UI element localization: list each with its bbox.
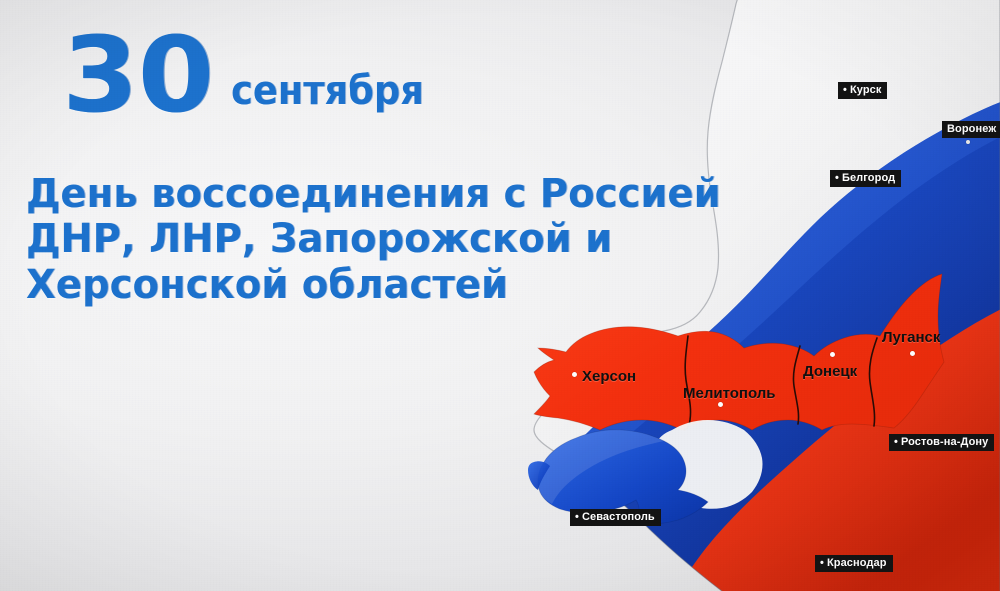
- city-name-rostov-na-donu: Ростов-на-Дону: [901, 436, 988, 448]
- city-label-melitopol[interactable]: Мелитополь: [683, 386, 776, 401]
- city-label-belgorod[interactable]: •Белгород: [830, 170, 901, 187]
- city-label-lugansk[interactable]: Луганск: [882, 330, 940, 345]
- headline-line-1: День воссоединения с Россией: [26, 172, 798, 217]
- city-label-kherson[interactable]: Херсон: [582, 369, 636, 384]
- city-name-donetsk: Донецк: [803, 363, 857, 380]
- date-row: 30 сентября: [62, 28, 440, 124]
- city-name-sevastopol: Севастополь: [582, 511, 655, 523]
- poster-canvas: •Курск Воронеж •Белгород Луганск Донецк …: [0, 0, 1000, 591]
- date-month-name: сентября: [231, 71, 424, 124]
- city-label-kursk[interactable]: •Курск: [838, 82, 887, 99]
- city-label-voronezh[interactable]: Воронеж: [942, 121, 1000, 138]
- city-name-krasnodar: Краснодар: [827, 557, 887, 569]
- city-dot-voronezh: [966, 140, 970, 144]
- date-day-number: 30: [62, 28, 213, 124]
- city-bullet-rostov: •: [894, 436, 898, 448]
- city-bullet-belgorod: •: [835, 172, 839, 184]
- city-label-krasnodar[interactable]: •Краснодар: [815, 555, 893, 572]
- headline-line-3: Херсонской областей: [26, 263, 798, 308]
- city-bullet-kursk: •: [843, 84, 847, 96]
- city-bullet-sevastopol: •: [575, 511, 579, 523]
- city-dot-donetsk: [830, 352, 835, 357]
- city-label-rostov-na-donu[interactable]: •Ростов-на-Дону: [889, 434, 994, 451]
- headline-line-2: ДНР, ЛНР, Запорожской и: [26, 217, 798, 262]
- city-label-sevastopol[interactable]: •Севастополь: [570, 509, 661, 526]
- city-name-kursk: Курск: [850, 84, 882, 96]
- city-name-kherson: Херсон: [582, 368, 636, 385]
- city-bullet-krasnodar: •: [820, 557, 824, 569]
- city-dot-lugansk: [910, 351, 915, 356]
- city-label-donetsk[interactable]: Донецк: [803, 364, 857, 379]
- city-name-lugansk: Луганск: [882, 329, 940, 346]
- city-name-voronezh: Воронеж: [947, 123, 996, 135]
- city-name-belgorod: Белгород: [842, 172, 895, 184]
- city-dot-kherson: [572, 372, 577, 377]
- city-dot-melitopol: [718, 402, 723, 407]
- headline-block: День воссоединения с Россией ДНР, ЛНР, З…: [26, 172, 826, 308]
- city-name-melitopol: Мелитополь: [683, 385, 776, 402]
